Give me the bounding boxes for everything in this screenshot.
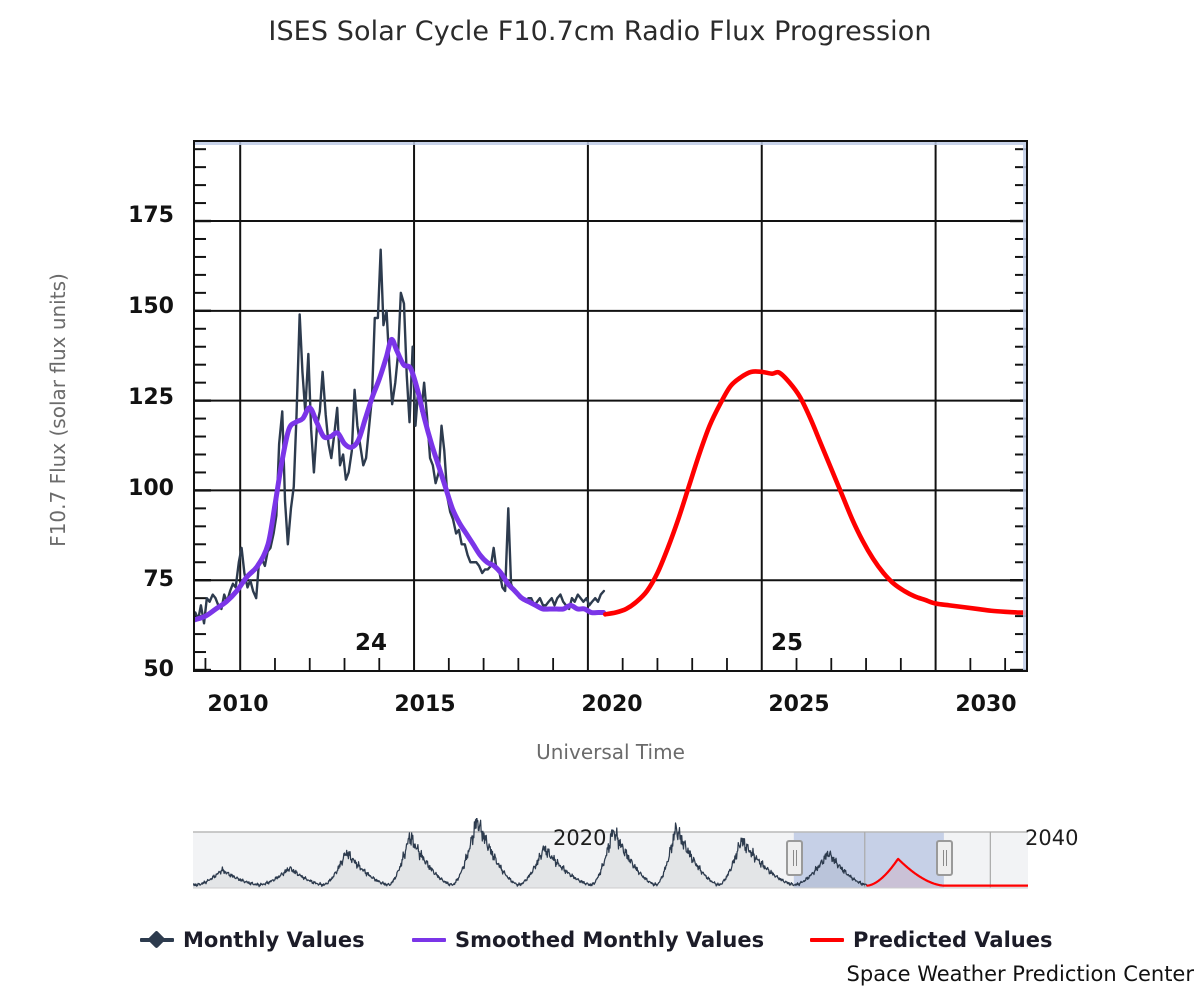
range-handle-left[interactable] bbox=[786, 840, 803, 876]
x-tick-label: 2025 bbox=[739, 692, 859, 717]
x-tick-label: 2015 bbox=[365, 692, 485, 717]
y-tick-label: 50 bbox=[104, 657, 174, 682]
grip-line bbox=[793, 850, 794, 866]
grip-line bbox=[946, 850, 947, 866]
legend-item-predicted[interactable]: Predicted Values bbox=[810, 928, 1052, 952]
page-title: ISES Solar Cycle F10.7cm Radio Flux Prog… bbox=[0, 16, 1200, 47]
legend-label: Predicted Values bbox=[853, 928, 1052, 952]
smoothed-line-icon bbox=[412, 932, 446, 948]
y-tick-label: 150 bbox=[104, 294, 174, 319]
y-tick-labels: 175 150 125 100 75 50 bbox=[98, 0, 174, 1000]
y-axis-title: F10.7 Flux (solar flux units) bbox=[46, 130, 70, 690]
overview-label-2020: 2020 bbox=[553, 826, 606, 850]
range-selector-preview bbox=[193, 818, 1028, 894]
legend-item-smoothed[interactable]: Smoothed Monthly Values bbox=[412, 928, 764, 952]
x-tick-label: 2010 bbox=[178, 692, 298, 717]
chart-legend: Monthly Values Smoothed Monthly Values P… bbox=[0, 928, 1200, 962]
x-axis-title: Universal Time bbox=[193, 740, 1028, 764]
range-selector[interactable]: 2020 2040 bbox=[193, 818, 1028, 894]
attribution-text: Space Weather Prediction Center bbox=[847, 962, 1194, 986]
x-tick-label: 2020 bbox=[552, 692, 672, 717]
legend-label: Monthly Values bbox=[183, 928, 365, 952]
cycle-label-25: 25 bbox=[771, 630, 803, 656]
legend-label: Smoothed Monthly Values bbox=[455, 928, 764, 952]
y-tick-label: 175 bbox=[104, 203, 174, 228]
flux-chart-svg bbox=[195, 142, 1026, 670]
overview-label-2040: 2040 bbox=[1025, 826, 1078, 850]
grip-line bbox=[943, 850, 944, 866]
y-tick-label: 75 bbox=[104, 567, 174, 592]
x-tick-labels: 2010 2015 2020 2025 2030 bbox=[0, 692, 1200, 726]
legend-item-monthly[interactable]: Monthly Values bbox=[140, 928, 365, 952]
y-tick-label: 125 bbox=[104, 385, 174, 410]
grip-line bbox=[796, 850, 797, 866]
monthly-marker-icon bbox=[140, 932, 174, 948]
x-tick-label: 2030 bbox=[926, 692, 1046, 717]
range-handle-right[interactable] bbox=[936, 840, 953, 876]
chart-plot-area[interactable] bbox=[193, 140, 1028, 672]
y-tick-label: 100 bbox=[104, 476, 174, 501]
predicted-line-icon bbox=[810, 932, 844, 948]
cycle-label-24: 24 bbox=[355, 630, 387, 656]
